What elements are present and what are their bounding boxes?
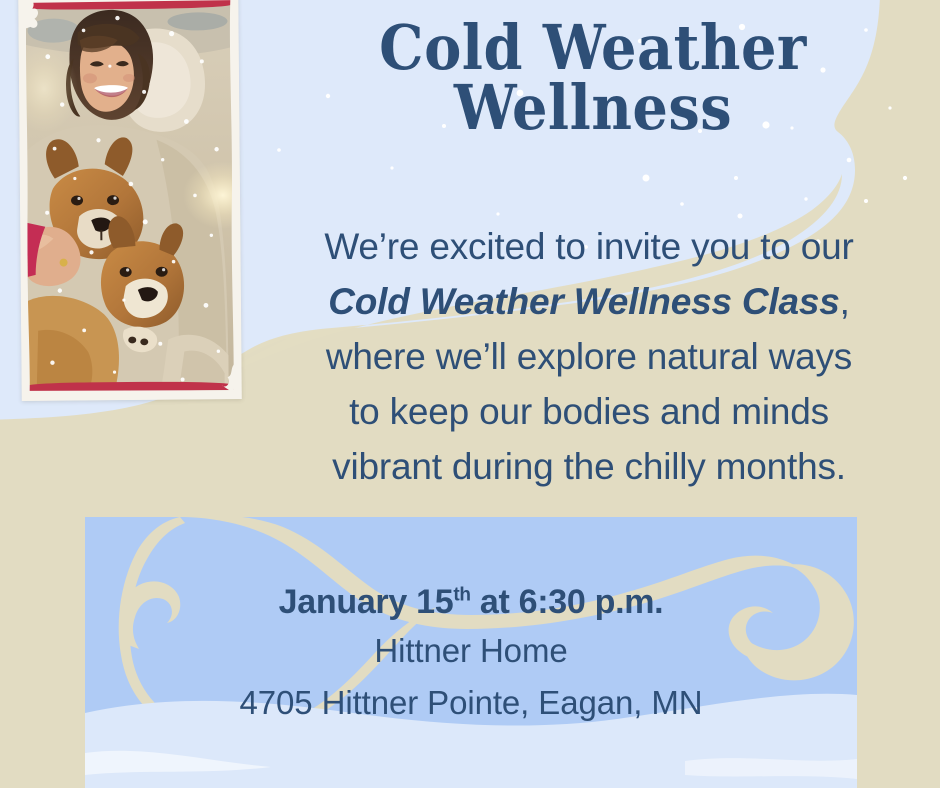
body-line-1: We’re excited to invite you to our <box>324 226 853 267</box>
event-venue: Hittner Home <box>85 625 857 677</box>
page-title: Cold Weather Wellness <box>258 18 928 138</box>
event-date-ordinal: th <box>453 585 470 606</box>
class-name-emphasis: Cold Weather Wellness Class <box>328 281 839 322</box>
flyer-canvas: Cold Weather Wellness We’re excited to i… <box>0 0 940 788</box>
photo <box>25 0 234 392</box>
photo-illustration <box>25 0 234 392</box>
photo-bottom-red-band <box>29 381 235 392</box>
body-comma: , <box>840 281 850 322</box>
event-address: 4705 Hittner Pointe, Eagan, MN <box>85 677 857 729</box>
title-line-2: Wellness <box>258 78 928 138</box>
photo-frame <box>18 0 242 401</box>
body-line-5: vibrant during the chilly months. <box>332 446 846 487</box>
event-details-panel: January 15th at 6:30 p.m. Hittner Home 4… <box>85 517 857 788</box>
event-details-text: January 15th at 6:30 p.m. Hittner Home 4… <box>85 579 857 729</box>
event-time: at 6:30 p.m. <box>471 583 664 621</box>
body-line-4: to keep our bodies and minds <box>349 391 829 432</box>
event-date-line: January 15th at 6:30 p.m. <box>85 579 857 625</box>
body-copy: We’re excited to invite you to our Cold … <box>248 219 930 494</box>
body-line-3: where we’ll explore natural ways <box>326 336 852 377</box>
event-date-prefix: January 15 <box>279 583 454 621</box>
